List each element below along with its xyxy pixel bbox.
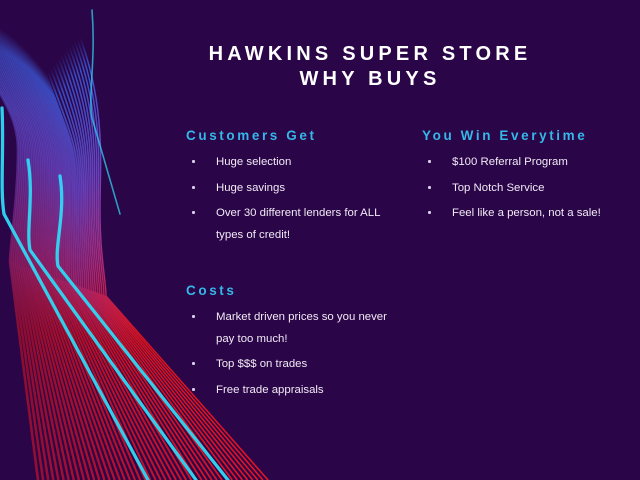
bullet-dot-icon <box>192 362 195 365</box>
bullet-text: Over 30 different lenders for ALL types … <box>216 203 396 246</box>
presentation-slide: HAWKINS SUPER STORE WHY BUYS Customers G… <box>0 0 640 480</box>
title-line-1: HAWKINS SUPER STORE <box>150 42 590 67</box>
bullet-text: Market driven prices so you never pay to… <box>216 307 401 350</box>
list-item: Huge selection <box>186 152 396 174</box>
section-customers-get: Customers Get Huge selection Huge saving… <box>186 128 396 250</box>
bullet-list-customers-get: Huge selection Huge savings Over 30 diff… <box>186 152 396 246</box>
bullet-dot-icon <box>428 186 431 189</box>
section-you-win-everytime: You Win Everytime $100 Referral Program … <box>422 128 622 229</box>
bullet-dot-icon <box>192 388 195 391</box>
section-costs: Costs Market driven prices so you never … <box>186 283 401 405</box>
bullet-text: Huge savings <box>216 178 396 200</box>
list-item: Over 30 different lenders for ALL types … <box>186 203 396 246</box>
list-item: Market driven prices so you never pay to… <box>186 307 401 350</box>
list-item: Huge savings <box>186 178 396 200</box>
list-item: Free trade appraisals <box>186 380 401 402</box>
bullet-dot-icon <box>192 186 195 189</box>
bullet-text: $100 Referral Program <box>452 152 622 174</box>
bullet-text: Top Notch Service <box>452 178 622 200</box>
section-heading-costs: Costs <box>186 283 401 298</box>
section-heading-you-win-everytime: You Win Everytime <box>422 128 622 143</box>
bullet-text: Top $$$ on trades <box>216 354 401 376</box>
bullet-dot-icon <box>428 160 431 163</box>
bullet-dot-icon <box>192 211 195 214</box>
title-line-2: WHY BUYS <box>150 67 590 92</box>
list-item: Top $$$ on trades <box>186 354 401 376</box>
bullet-dot-icon <box>192 315 195 318</box>
list-item: Feel like a person, not a sale! <box>422 203 622 225</box>
bullet-list-costs: Market driven prices so you never pay to… <box>186 307 401 401</box>
bullet-dot-icon <box>428 211 431 214</box>
bullet-text: Feel like a person, not a sale! <box>452 203 622 225</box>
bullet-text: Free trade appraisals <box>216 380 401 402</box>
section-heading-customers-get: Customers Get <box>186 128 396 143</box>
bullet-list-you-win-everytime: $100 Referral Program Top Notch Service … <box>422 152 622 225</box>
list-item: Top Notch Service <box>422 178 622 200</box>
bullet-text: Huge selection <box>216 152 396 174</box>
list-item: $100 Referral Program <box>422 152 622 174</box>
slide-title: HAWKINS SUPER STORE WHY BUYS <box>150 42 590 92</box>
bullet-dot-icon <box>192 160 195 163</box>
